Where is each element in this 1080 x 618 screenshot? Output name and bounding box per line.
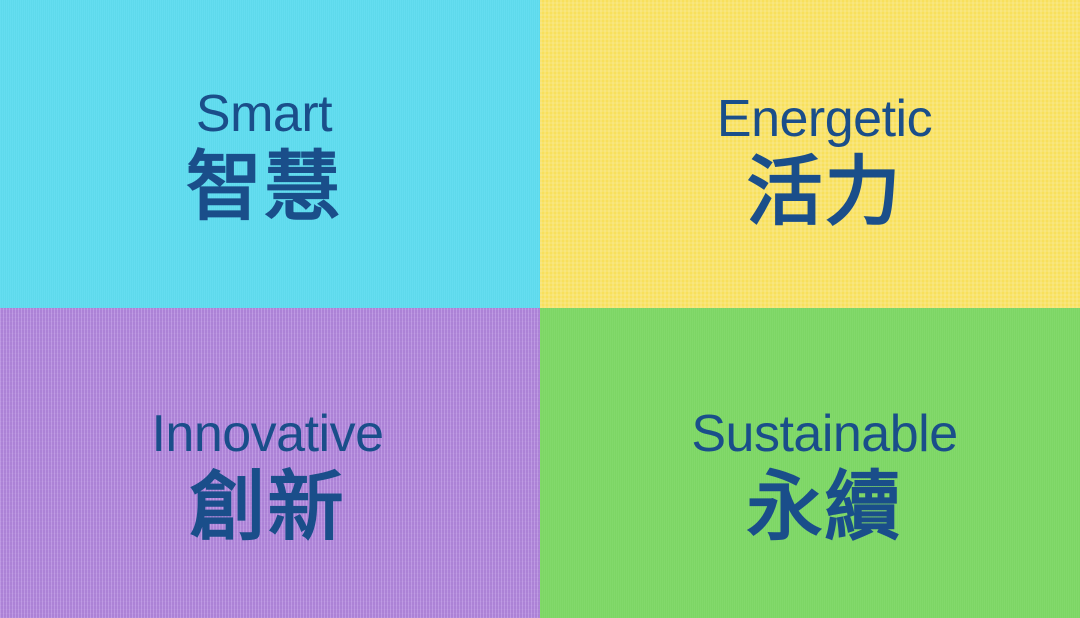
quadrant-innovative-label-en: Innovative <box>151 408 383 460</box>
quadrant-smart[interactable]: Smart 智慧 <box>0 0 540 308</box>
quadrant-energetic-label-zh: 活力 <box>747 155 903 231</box>
quadrant-smart-label-zh: 智慧 <box>186 150 342 226</box>
quadrant-sustainable-label-zh: 永續 <box>746 470 902 546</box>
quadrant-smart-text-block: Smart 智慧 <box>186 88 342 226</box>
quadrant-energetic[interactable]: Energetic 活力 <box>540 0 1080 308</box>
quadrant-smart-label-en: Smart <box>196 88 332 140</box>
quadrant-innovative-label-zh: 創新 <box>189 470 345 546</box>
quadrant-sustainable[interactable]: Sustainable 永續 <box>540 308 1080 618</box>
quadrant-innovative-text-block: Innovative 創新 <box>151 408 383 546</box>
quadrant-sustainable-text-block: Sustainable 永續 <box>691 408 957 546</box>
quadrant-energetic-label-en: Energetic <box>717 93 932 145</box>
quadrant-energetic-text-block: Energetic 活力 <box>717 93 932 231</box>
quadrant-innovative[interactable]: Innovative 創新 <box>0 308 540 618</box>
quadrant-sustainable-label-en: Sustainable <box>691 408 957 460</box>
brand-values-quadrant-board: Smart 智慧 Energetic 活力 Innovative 創新 Sust… <box>0 0 1080 618</box>
